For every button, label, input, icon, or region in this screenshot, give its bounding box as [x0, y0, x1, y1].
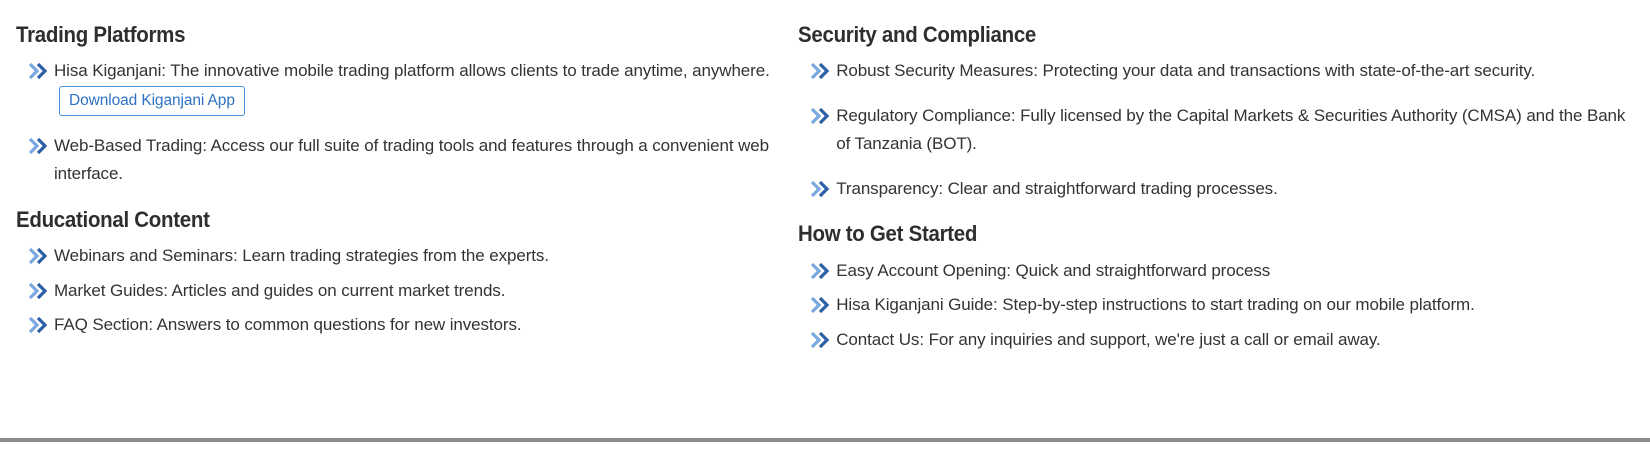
- list-item: Robust Security Measures: Protecting you…: [798, 57, 1640, 86]
- section-heading-security-and-compliance: Security and Compliance: [798, 22, 1581, 47]
- list-item: Webinars and Seminars: Learn trading str…: [16, 242, 778, 271]
- double-chevron-right-icon: [810, 330, 832, 350]
- bottom-divider: [0, 438, 1650, 442]
- double-chevron-right-icon: [28, 281, 50, 301]
- section-heading-trading-platforms: Trading Platforms: [16, 22, 725, 47]
- list-item-text: Hisa Kiganjani: The innovative mobile tr…: [54, 61, 770, 80]
- section-heading-how-to-get-started: How to Get Started: [798, 221, 1581, 246]
- list-item: Web-Based Trading: Access our full suite…: [16, 132, 778, 189]
- bullet-list-security-and-compliance: Robust Security Measures: Protecting you…: [798, 57, 1640, 203]
- list-item: Market Guides: Articles and guides on cu…: [16, 277, 778, 306]
- bullet-list-how-to-get-started: Easy Account Opening: Quick and straight…: [798, 257, 1640, 355]
- double-chevron-right-icon: [810, 61, 832, 81]
- double-chevron-right-icon: [28, 246, 50, 266]
- bullet-list-educational-content: Webinars and Seminars: Learn trading str…: [16, 242, 778, 340]
- list-item: Contact Us: For any inquiries and suppor…: [798, 326, 1640, 355]
- double-chevron-right-icon: [810, 179, 832, 199]
- list-item-text: Easy Account Opening: Quick and straight…: [836, 261, 1270, 280]
- list-item: Hisa Kiganjani Guide: Step-by-step instr…: [798, 291, 1640, 320]
- list-item-text: Web-Based Trading: Access our full suite…: [54, 136, 769, 184]
- two-column-layout: Trading Platforms Hisa Kiganjani: The in…: [0, 0, 1650, 360]
- content-page: Trading Platforms Hisa Kiganjani: The in…: [0, 0, 1650, 450]
- list-item-text: Hisa Kiganjani Guide: Step-by-step instr…: [836, 295, 1474, 314]
- list-item: Easy Account Opening: Quick and straight…: [798, 257, 1640, 286]
- list-item-text: Transparency: Clear and straightforward …: [836, 179, 1277, 198]
- left-column: Trading Platforms Hisa Kiganjani: The in…: [16, 22, 798, 346]
- bullet-list-trading-platforms: Hisa Kiganjani: The innovative mobile tr…: [16, 57, 778, 189]
- double-chevron-right-icon: [28, 315, 50, 335]
- double-chevron-right-icon: [28, 136, 50, 156]
- double-chevron-right-icon: [810, 261, 832, 281]
- list-item-text: Contact Us: For any inquiries and suppor…: [836, 330, 1380, 349]
- double-chevron-right-icon: [810, 295, 832, 315]
- list-item-text: Robust Security Measures: Protecting you…: [836, 61, 1535, 80]
- list-item-text: FAQ Section: Answers to common questions…: [54, 315, 521, 334]
- list-item-text: Regulatory Compliance: Fully licensed by…: [836, 106, 1625, 154]
- list-item-text: Webinars and Seminars: Learn trading str…: [54, 246, 549, 265]
- list-item: FAQ Section: Answers to common questions…: [16, 311, 778, 340]
- double-chevron-right-icon: [810, 106, 832, 126]
- list-item: Hisa Kiganjani: The innovative mobile tr…: [16, 57, 778, 116]
- section-heading-educational-content: Educational Content: [16, 207, 725, 232]
- download-kiganjani-app-button[interactable]: Download Kiganjani App: [59, 86, 245, 116]
- list-item-text: Market Guides: Articles and guides on cu…: [54, 281, 505, 300]
- right-column: Security and Compliance Robust Security …: [798, 22, 1640, 360]
- list-item: Transparency: Clear and straightforward …: [798, 175, 1640, 204]
- double-chevron-right-icon: [28, 61, 50, 81]
- list-item: Regulatory Compliance: Fully licensed by…: [798, 102, 1640, 159]
